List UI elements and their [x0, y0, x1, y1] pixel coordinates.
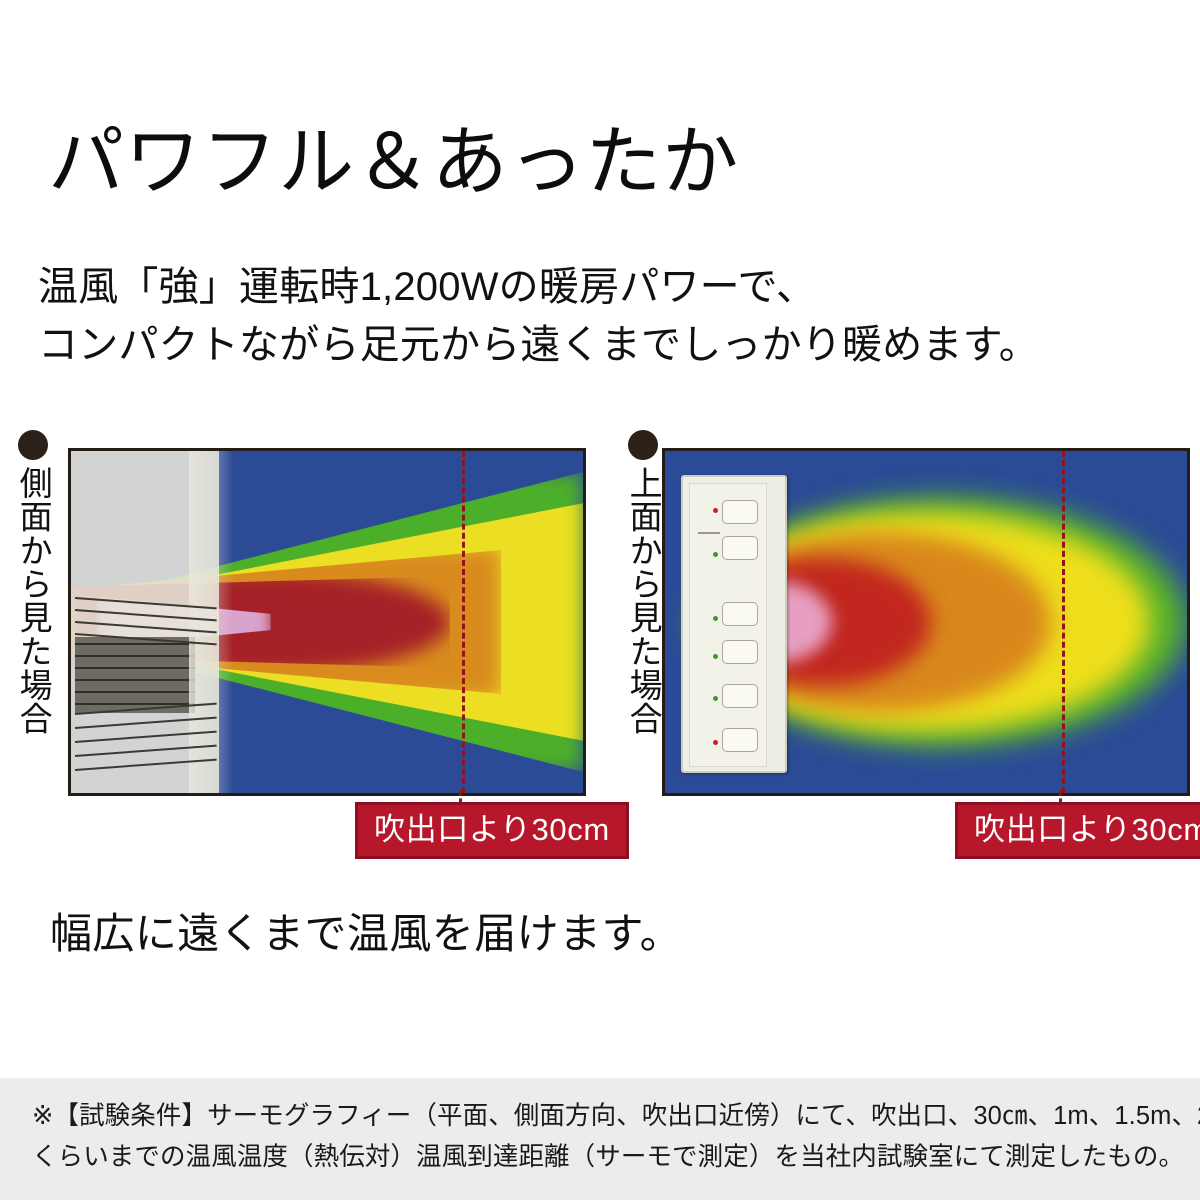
led-power-indicator: [713, 508, 718, 513]
thermal-image-top: [662, 448, 1190, 796]
footnote-line-1: ※【試験条件】サーモグラフィー（平面、側面方向、吹出口近傍）にて、吹出口、30㎝…: [32, 1096, 1172, 1137]
distance-badge-side: 吹出口より30cm: [355, 802, 629, 859]
led-heat-indicator: [713, 654, 718, 659]
distance-badge-top: 吹出口より30cm: [955, 802, 1200, 859]
footnote-bar: ※【試験条件】サーモグラフィー（平面、側面方向、吹出口近傍）にて、吹出口、30㎝…: [0, 1078, 1200, 1200]
lead-line-2: コンパクトながら足元から遠くまでしっかり暖めます。: [38, 316, 1039, 374]
control-button-power[interactable]: [722, 500, 758, 524]
footnote-line-2: くらいまでの温風温度（熱伝対）温風到達距離（サーモで測定）を当社内試験室にて測定…: [32, 1137, 1172, 1178]
bullet-dot-icon: [18, 430, 48, 460]
lead-line-1: 温風「強」運転時1,200Wの暖房パワーで、: [38, 258, 1039, 316]
page-title: パワフル＆あったか: [48, 123, 739, 203]
control-label-tick: [698, 532, 720, 534]
led-timer-indicator: [713, 616, 718, 621]
heater-louvers-bottom: [75, 709, 219, 781]
led-mode-indicator: [713, 552, 718, 557]
mid-caption: 幅広に遠くまで温風を届けます。: [50, 900, 682, 961]
control-button-swing[interactable]: [722, 684, 758, 708]
control-panel-strip: [689, 483, 767, 767]
control-button-heat[interactable]: [722, 640, 758, 664]
thermal-figures: 側面から見た場合: [0, 430, 1200, 850]
control-button-mode[interactable]: [722, 536, 758, 560]
reference-line-30cm-top: [1062, 451, 1065, 793]
control-button-fan[interactable]: [722, 728, 758, 752]
reference-line-30cm-side: [462, 451, 465, 793]
side-view-caption: 側面から見た場合: [10, 430, 56, 735]
bullet-dot-icon: [628, 430, 658, 460]
thermal-image-side: [68, 448, 586, 796]
lead-paragraph: 温風「強」運転時1,200Wの暖房パワーで、 コンパクトながら足元から遠くまでし…: [38, 258, 1039, 374]
top-view-label: 上面から見た場合: [626, 466, 660, 735]
heater-outlet-grille: [75, 637, 195, 713]
side-view-label: 側面から見た場合: [16, 466, 50, 735]
heater-louvers-top: [75, 593, 219, 639]
footnote-text: ※【試験条件】サーモグラフィー（平面、側面方向、吹出口近傍）にて、吹出口、30㎝…: [32, 1096, 1172, 1179]
top-view-caption: 上面から見た場合: [620, 430, 666, 735]
heater-control-panel: [681, 475, 787, 773]
led-fan-indicator: [713, 740, 718, 745]
led-swing-indicator: [713, 696, 718, 701]
control-button-timer[interactable]: [722, 602, 758, 626]
